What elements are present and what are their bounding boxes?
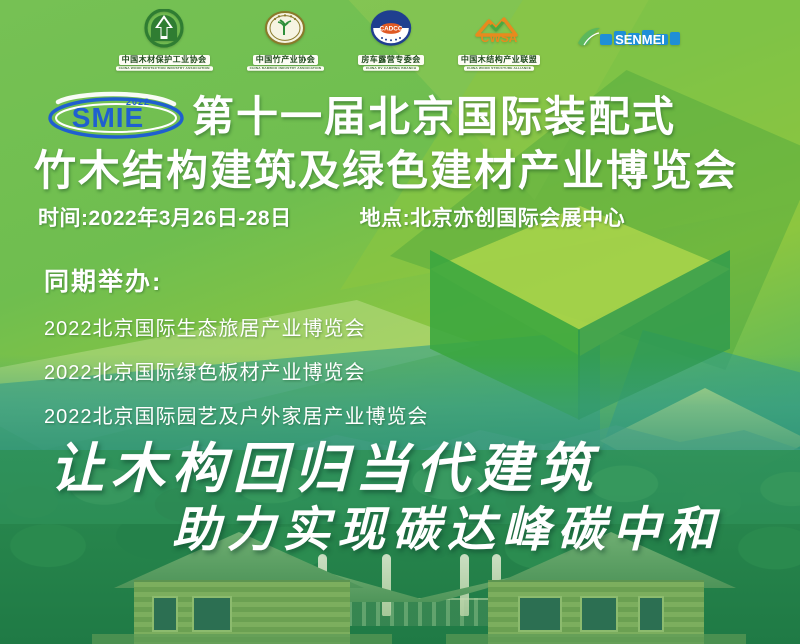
sponsor-logo-china-wood-protection: 中国木材保护工业协会 CHINA WOOD PROTECTION INDUSTR… <box>116 9 213 72</box>
cabin-door <box>580 596 618 632</box>
sponsor-name-en: CHINA WOOD PROTECTION INDUSTRY ASSOCIATI… <box>116 66 213 71</box>
bamboo-seal-icon <box>264 9 306 54</box>
sponsor-logo-cwsa: CWSA 中国木结构产业联盟 CHINA WOOD STRUCTURE ALLI… <box>458 9 541 72</box>
sponsor-name-cn: 中国木材保护工业协会 <box>119 55 210 65</box>
event-meta: 时间:2022年3月26日-28日 地点:北京亦创国际会展中心 <box>38 202 625 232</box>
sponsor-logo-senmei: SENMEI <box>574 21 684 60</box>
concurrent-events-block: 同期举办: 2022北京国际生态旅居产业博览会 2022北京国际绿色板材产业博览… <box>44 262 429 444</box>
expo-poster: 中国木材保护工业协会 CHINA WOOD PROTECTION INDUSTR… <box>0 0 800 644</box>
smie-logo: SMIE 2022 <box>46 88 186 140</box>
smie-year: 2022 <box>126 97 150 107</box>
concurrent-event-item: 2022北京国际绿色板材产业博览会 <box>44 356 429 385</box>
senmei-abbr: SENMEI <box>615 32 665 47</box>
sponsor-name-en: CHINA RV CAMPING BRANCH <box>363 66 419 71</box>
sponsor-name-en: CHINA WOOD STRUCTURE ALLIANCE <box>464 66 534 71</box>
cabin-window <box>518 596 562 632</box>
concurrent-heading: 同期举办: <box>44 262 429 298</box>
leaf-wordmark-icon: SENMEI <box>574 21 684 60</box>
cabin-porch <box>446 634 746 644</box>
headline-line-2: 竹木结构建筑及绿色建材产业博览会 <box>34 146 800 196</box>
sponsor-name-en: CHINA BAMBOO INDUSTRY ASSOCIATION <box>247 66 325 71</box>
sponsor-name-cn: 中国竹产业协会 <box>253 55 319 65</box>
cabin-window <box>638 596 664 632</box>
sponsor-logo-bar: 中国木材保护工业协会 CHINA WOOD PROTECTION INDUSTR… <box>0 10 800 70</box>
sponsor-logo-bamboo-association: 中国竹产业协会 CHINA BAMBOO INDUSTRY ASSOCIATIO… <box>247 9 325 72</box>
cwsa-abbr: CWSA <box>481 31 518 45</box>
sponsor-logo-cadcc: CADCC 房车露营专委会 CHINA RV CAMPING BRANCH <box>358 9 424 72</box>
svg-text:CADCC: CADCC <box>380 25 403 32</box>
event-date: 时间:2022年3月26日-28日 <box>38 202 292 232</box>
sponsor-name-cn: 房车露营专委会 <box>358 55 424 65</box>
cadcc-badge-icon: CADCC <box>370 9 412 54</box>
headline-line-1: 第十一届北京国际装配式 <box>192 92 800 142</box>
cabin-window <box>152 596 178 632</box>
event-venue: 地点:北京亦创国际会展中心 <box>360 202 626 232</box>
slogan-line-2: 助力实现碳达峰碳中和 <box>172 490 722 560</box>
sponsor-name-cn: 中国木结构产业联盟 <box>458 55 541 65</box>
house-roof-icon: CWSA <box>471 9 527 54</box>
concurrent-event-item: 2022北京国际生态旅居产业博览会 <box>44 312 429 341</box>
cabin-porch <box>92 634 392 644</box>
cabin-door <box>192 596 232 632</box>
tree-shield-icon <box>143 9 185 54</box>
